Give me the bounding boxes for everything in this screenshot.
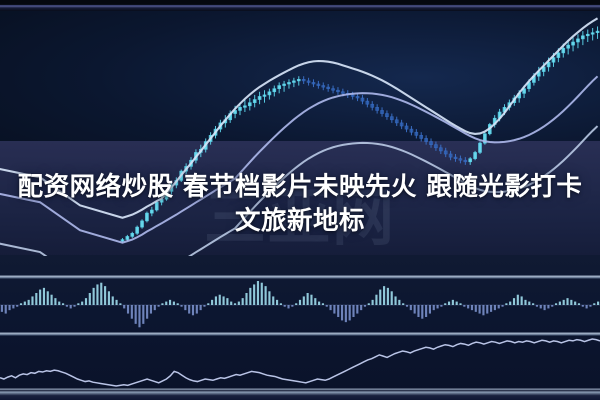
stock-chart-banner: 三亚网 配资网络炒股 春节档影片未映先火 跟随光影打卡 文旅新地标	[0, 0, 600, 400]
headline-line-1: 配资网络炒股 春节档影片未映先火 跟随光影打卡	[0, 170, 600, 204]
panel-separator-bottom	[0, 332, 600, 336]
headline-line-2: 文旅新地标	[0, 204, 600, 238]
bottom-edge-strip	[0, 390, 600, 400]
top-edge-strip	[0, 0, 600, 11]
headline-text: 配资网络炒股 春节档影片未映先火 跟随光影打卡 文旅新地标	[0, 170, 600, 238]
oscillator-line-group	[0, 339, 600, 386]
price-candles-group	[0, 18, 599, 292]
macd-histogram-group	[0, 281, 600, 327]
panel-separator-top	[0, 275, 600, 279]
